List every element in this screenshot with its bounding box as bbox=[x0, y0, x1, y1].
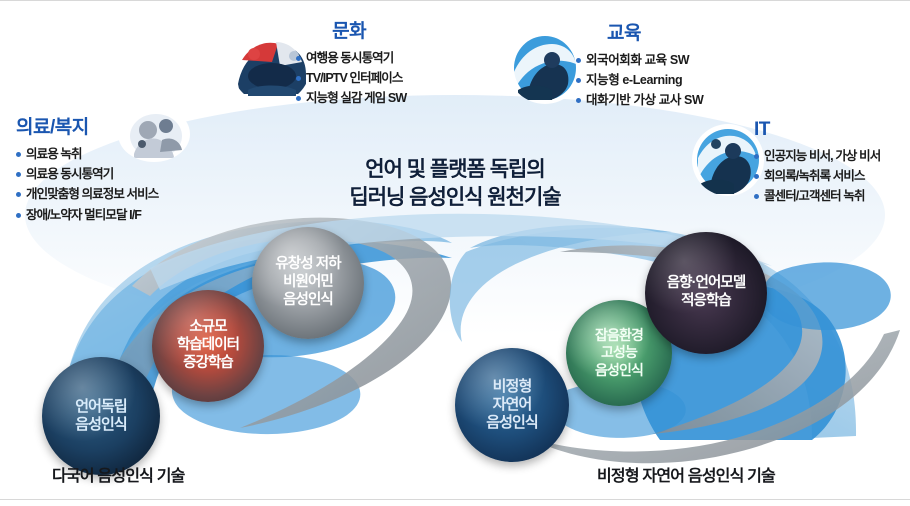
center-title: 언어 및 플랫폼 독립의 딥러닝 음성인식 원천기술 bbox=[325, 156, 585, 213]
caption-right: 비정형 자연어 음성인식 기술 bbox=[597, 462, 775, 486]
domain-list-culture: 여행용 동시통역기 TV/IPTV 인터페이스 지능형 실감 게임 SW bbox=[296, 48, 406, 109]
education-photo-thumbnail bbox=[508, 32, 582, 104]
list-item: 장애/노약자 멀티모달 I/F bbox=[16, 205, 158, 225]
sphere-line: 언어독립 bbox=[75, 398, 127, 416]
list-item: 지능형 실감 게임 SW bbox=[296, 88, 406, 108]
sphere-line: 자연어 bbox=[486, 396, 538, 414]
domain-block-it: IT 인공지능 비서, 가상 비서 회의록/녹취록 서비스 콜센터/고객센터 녹… bbox=[754, 120, 880, 207]
list-item: 의료용 녹취 bbox=[16, 144, 158, 164]
top-divider bbox=[0, 0, 910, 1]
sphere-model-adaptation: 음향·언어모델 적응학습 bbox=[645, 232, 767, 354]
infographic-canvas: 의료/복지 의료용 녹취 의료용 동시통역기 개인맞춤형 의료정보 서비스 장애… bbox=[0, 0, 910, 506]
sphere-line: 비정형 bbox=[486, 378, 538, 396]
center-title-line2: 딥러닝 음성인식 원천기술 bbox=[325, 184, 585, 212]
domain-title-medical: 의료/복지 bbox=[16, 118, 158, 139]
sphere-line: 증강학습 bbox=[177, 355, 239, 373]
domain-block-culture: 문화 여행용 동시통역기 TV/IPTV 인터페이스 지능형 실감 게임 SW bbox=[296, 22, 406, 109]
sphere-line: 음성인식 bbox=[486, 414, 538, 432]
list-item: 콜센터/고객센터 녹취 bbox=[754, 186, 880, 206]
list-item: 회의록/녹취록 서비스 bbox=[754, 166, 880, 186]
list-item: TV/IPTV 인터페이스 bbox=[296, 68, 406, 88]
list-item: 여행용 동시통역기 bbox=[296, 48, 406, 68]
sphere-line: 비원어민 bbox=[275, 274, 340, 292]
domain-block-medical: 의료/복지 의료용 녹취 의료용 동시통역기 개인맞춤형 의료정보 서비스 장애… bbox=[16, 118, 158, 225]
sphere-small-data-augment: 소규모 학습데이터 증강학습 bbox=[152, 290, 264, 402]
domain-block-education: 교육 외국어회화 교육 SW 지능형 e-Learning 대화기반 가상 교사… bbox=[576, 24, 703, 111]
sphere-line: 유창성 저하 bbox=[275, 256, 340, 274]
domain-title-culture: 문화 bbox=[292, 22, 406, 43]
sphere-nonstandard-language: 비정형 자연어 음성인식 bbox=[455, 348, 569, 462]
list-item: 대화기반 가상 교사 SW bbox=[576, 90, 703, 110]
domain-list-medical: 의료용 녹취 의료용 동시통역기 개인맞춤형 의료정보 서비스 장애/노약자 멀… bbox=[16, 144, 158, 225]
sphere-line: 잡음환경 bbox=[595, 327, 643, 344]
domain-list-education: 외국어회화 교육 SW 지능형 e-Learning 대화기반 가상 교사 SW bbox=[576, 50, 703, 111]
sphere-line: 학습데이터 bbox=[177, 337, 239, 355]
sphere-line: 소규모 bbox=[177, 319, 239, 337]
sphere-language-independent: 언어독립 음성인식 bbox=[42, 357, 160, 475]
domain-title-education: 교육 bbox=[576, 24, 672, 45]
sphere-line: 음성인식 bbox=[275, 292, 340, 310]
domain-list-it: 인공지능 비서, 가상 비서 회의록/녹취록 서비스 콜센터/고객센터 녹취 bbox=[754, 146, 880, 207]
domain-title-it: IT bbox=[754, 120, 880, 141]
list-item: 외국어회화 교육 SW bbox=[576, 50, 703, 70]
caption-left: 다국어 음성인식 기술 bbox=[52, 462, 185, 486]
sphere-line: 적응학습 bbox=[667, 293, 746, 311]
sphere-line: 고성능 bbox=[595, 344, 643, 361]
list-item: 지능형 e-Learning bbox=[576, 70, 703, 90]
sphere-line: 음성인식 bbox=[75, 416, 127, 434]
list-item: 인공지능 비서, 가상 비서 bbox=[754, 146, 880, 166]
list-item: 개인맞춤형 의료정보 서비스 bbox=[16, 184, 158, 204]
sphere-fluency-nonnative: 유창성 저하 비원어민 음성인식 bbox=[252, 227, 364, 339]
bottom-divider bbox=[0, 499, 910, 500]
sphere-line: 음향·언어모델 bbox=[667, 275, 746, 293]
center-title-line1: 언어 및 플랫폼 독립의 bbox=[325, 156, 585, 184]
list-item: 의료용 동시통역기 bbox=[16, 164, 158, 184]
sphere-line: 음성인식 bbox=[595, 362, 643, 379]
